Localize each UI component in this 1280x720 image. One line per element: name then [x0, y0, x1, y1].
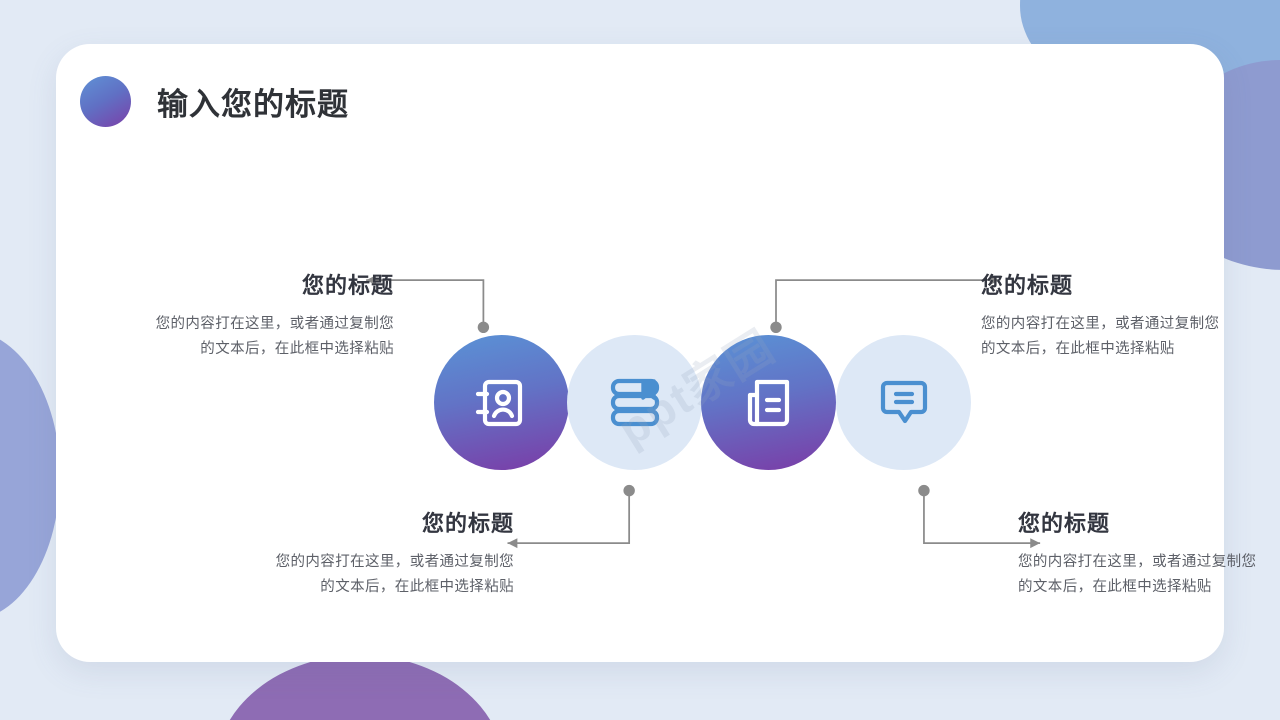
books-stack-icon: [603, 371, 667, 435]
icon-circle-1[interactable]: [434, 335, 569, 470]
text-block-body: 您的内容打在这里，或者通过复制您的文本后，在此框中选择粘贴: [264, 550, 514, 600]
icon-circle-3[interactable]: [701, 335, 836, 470]
header-gradient-dot-icon: [80, 76, 131, 127]
text-block-bottom-right: 您的标题 您的内容打在这里，或者通过复制您的文本后，在此框中选择粘贴: [1018, 506, 1268, 600]
connector-dot-circle-2: [623, 485, 634, 496]
decorative-blob-bottom-purple: [215, 655, 505, 720]
page-title: 输入您的标题: [157, 79, 349, 124]
text-block-bottom-left: 您的标题 您的内容打在这里，或者通过复制您的文本后，在此框中选择粘贴: [264, 506, 514, 600]
icon-circle-2[interactable]: [567, 335, 702, 470]
newspaper-icon: [737, 371, 801, 435]
connector-dot-circle-4: [918, 485, 929, 496]
icon-circle-4[interactable]: [836, 335, 971, 470]
content-card: 输入您的标题: [56, 44, 1224, 662]
connector-dot-circle-3: [770, 322, 781, 333]
connector-dot-circle-1: [478, 322, 489, 333]
text-block-body: 您的内容打在这里，或者通过复制您的文本后，在此框中选择粘贴: [144, 312, 394, 362]
text-block-body: 您的内容打在这里，或者通过复制您的文本后，在此框中选择粘贴: [1018, 550, 1268, 600]
slide-canvas: 输入您的标题: [0, 0, 1280, 720]
text-block-body: 您的内容打在这里，或者通过复制您的文本后，在此框中选择粘贴: [981, 312, 1231, 362]
text-block-heading: 您的标题: [264, 506, 514, 538]
text-block-heading: 您的标题: [981, 268, 1231, 300]
address-book-icon: [470, 371, 534, 435]
decorative-blob-left-periwinkle: [0, 330, 60, 620]
text-block-top-left: 您的标题 您的内容打在这里，或者通过复制您的文本后，在此框中选择粘贴: [144, 268, 394, 362]
text-block-top-right: 您的标题 您的内容打在这里，或者通过复制您的文本后，在此框中选择粘贴: [981, 268, 1231, 362]
chat-bubble-icon: [872, 371, 936, 435]
page-header: 输入您的标题: [80, 76, 349, 127]
text-block-heading: 您的标题: [1018, 506, 1268, 538]
text-block-heading: 您的标题: [144, 268, 394, 300]
